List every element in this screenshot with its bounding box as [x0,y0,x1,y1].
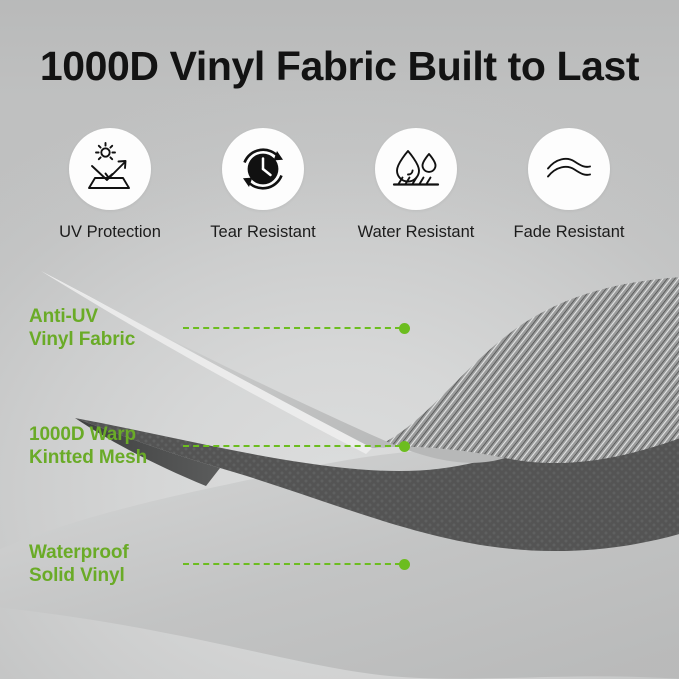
feature-row: UV Protection Tear Res [34,128,645,242]
callout-text: Waterproof Solid Vinyl [29,541,179,587]
feature-circle [69,128,151,210]
feature-item-uv-protection: UV Protection [34,128,186,242]
callout-endpoint-dot [399,323,410,334]
fabric-waves-icon [541,141,597,197]
callout-line-1: 1000D Warp [29,423,179,446]
callout-leader-line [183,563,401,565]
feature-circle [528,128,610,210]
page-title: 1000D Vinyl Fabric Built to Last [0,44,679,89]
callout-line-1: Anti-UV [29,305,179,328]
callout-leader-line [183,327,401,329]
water-droplets-icon [388,141,444,197]
callout-line-1: Waterproof [29,541,179,564]
callout-text: Anti-UV Vinyl Fabric [29,305,179,351]
feature-label: Water Resistant [358,223,475,242]
callout-line-2: Kintted Mesh [29,446,179,469]
callout-endpoint-dot [399,559,410,570]
feature-item-water-resistant: Water Resistant [340,128,492,242]
feature-label: Fade Resistant [514,223,625,242]
callout-waterproof-solid-vinyl: Waterproof Solid Vinyl [29,541,410,587]
callout-anti-uv-vinyl-fabric: Anti-UV Vinyl Fabric [29,305,410,351]
callout-1000d-warp-knitted-mesh: 1000D Warp Kintted Mesh [29,423,410,469]
feature-item-fade-resistant: Fade Resistant [493,128,645,242]
callout-line-2: Vinyl Fabric [29,328,179,351]
callout-text: 1000D Warp Kintted Mesh [29,423,179,469]
callout-leader-line [183,445,401,447]
feature-label: Tear Resistant [210,223,315,242]
uv-sun-reflection-icon [81,140,139,198]
feature-item-tear-resistant: Tear Resistant [187,128,339,242]
callout-line-2: Solid Vinyl [29,564,179,587]
feature-label: UV Protection [59,223,161,242]
product-infographic: 1000D Vinyl Fabric Built to Last [0,0,679,679]
clock-rotation-icon [235,141,291,197]
feature-circle [375,128,457,210]
feature-circle [222,128,304,210]
callout-endpoint-dot [399,441,410,452]
